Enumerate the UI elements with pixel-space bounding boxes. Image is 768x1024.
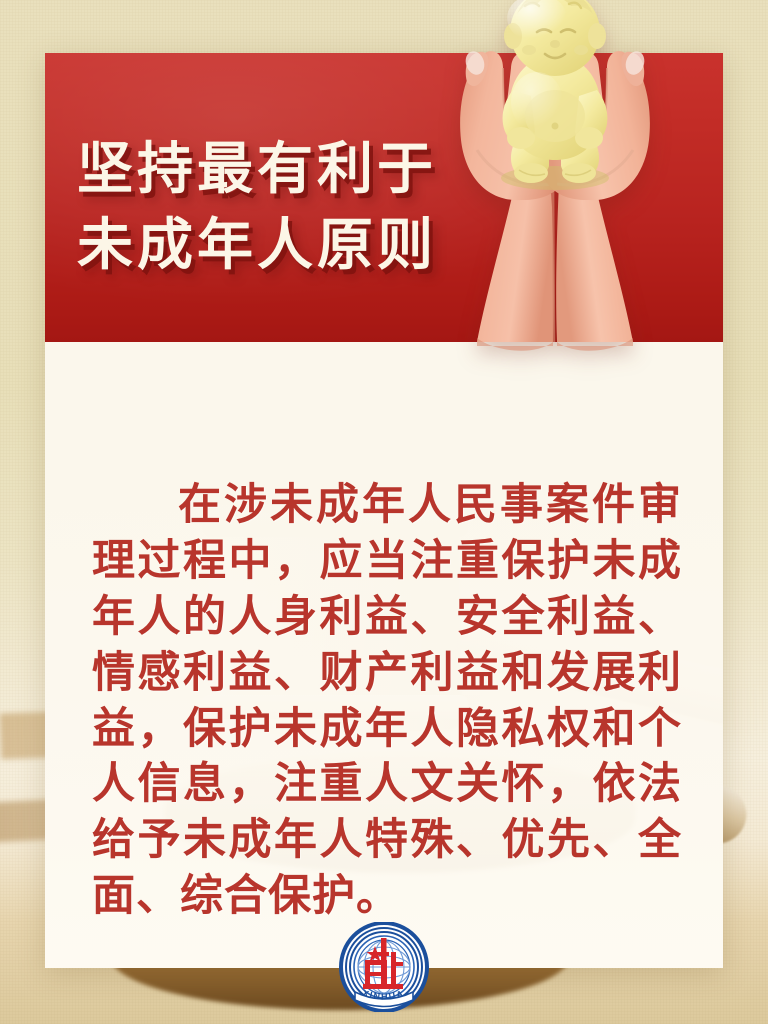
body-paragraph: 在涉未成年人民事案件审理过程中，应当注重保护未成年人的人身利益、安全利益、情感利… bbox=[92, 478, 682, 925]
poster-root: 坚持最有利于 未成年人原则 在涉未成年人民事案件审理过程中，应当注重保护未成年人… bbox=[0, 0, 768, 1024]
hands-holding-baby-illustration bbox=[425, 0, 685, 370]
xinhua-logo: XINHUA bbox=[339, 922, 429, 1012]
forearms bbox=[477, 175, 633, 351]
